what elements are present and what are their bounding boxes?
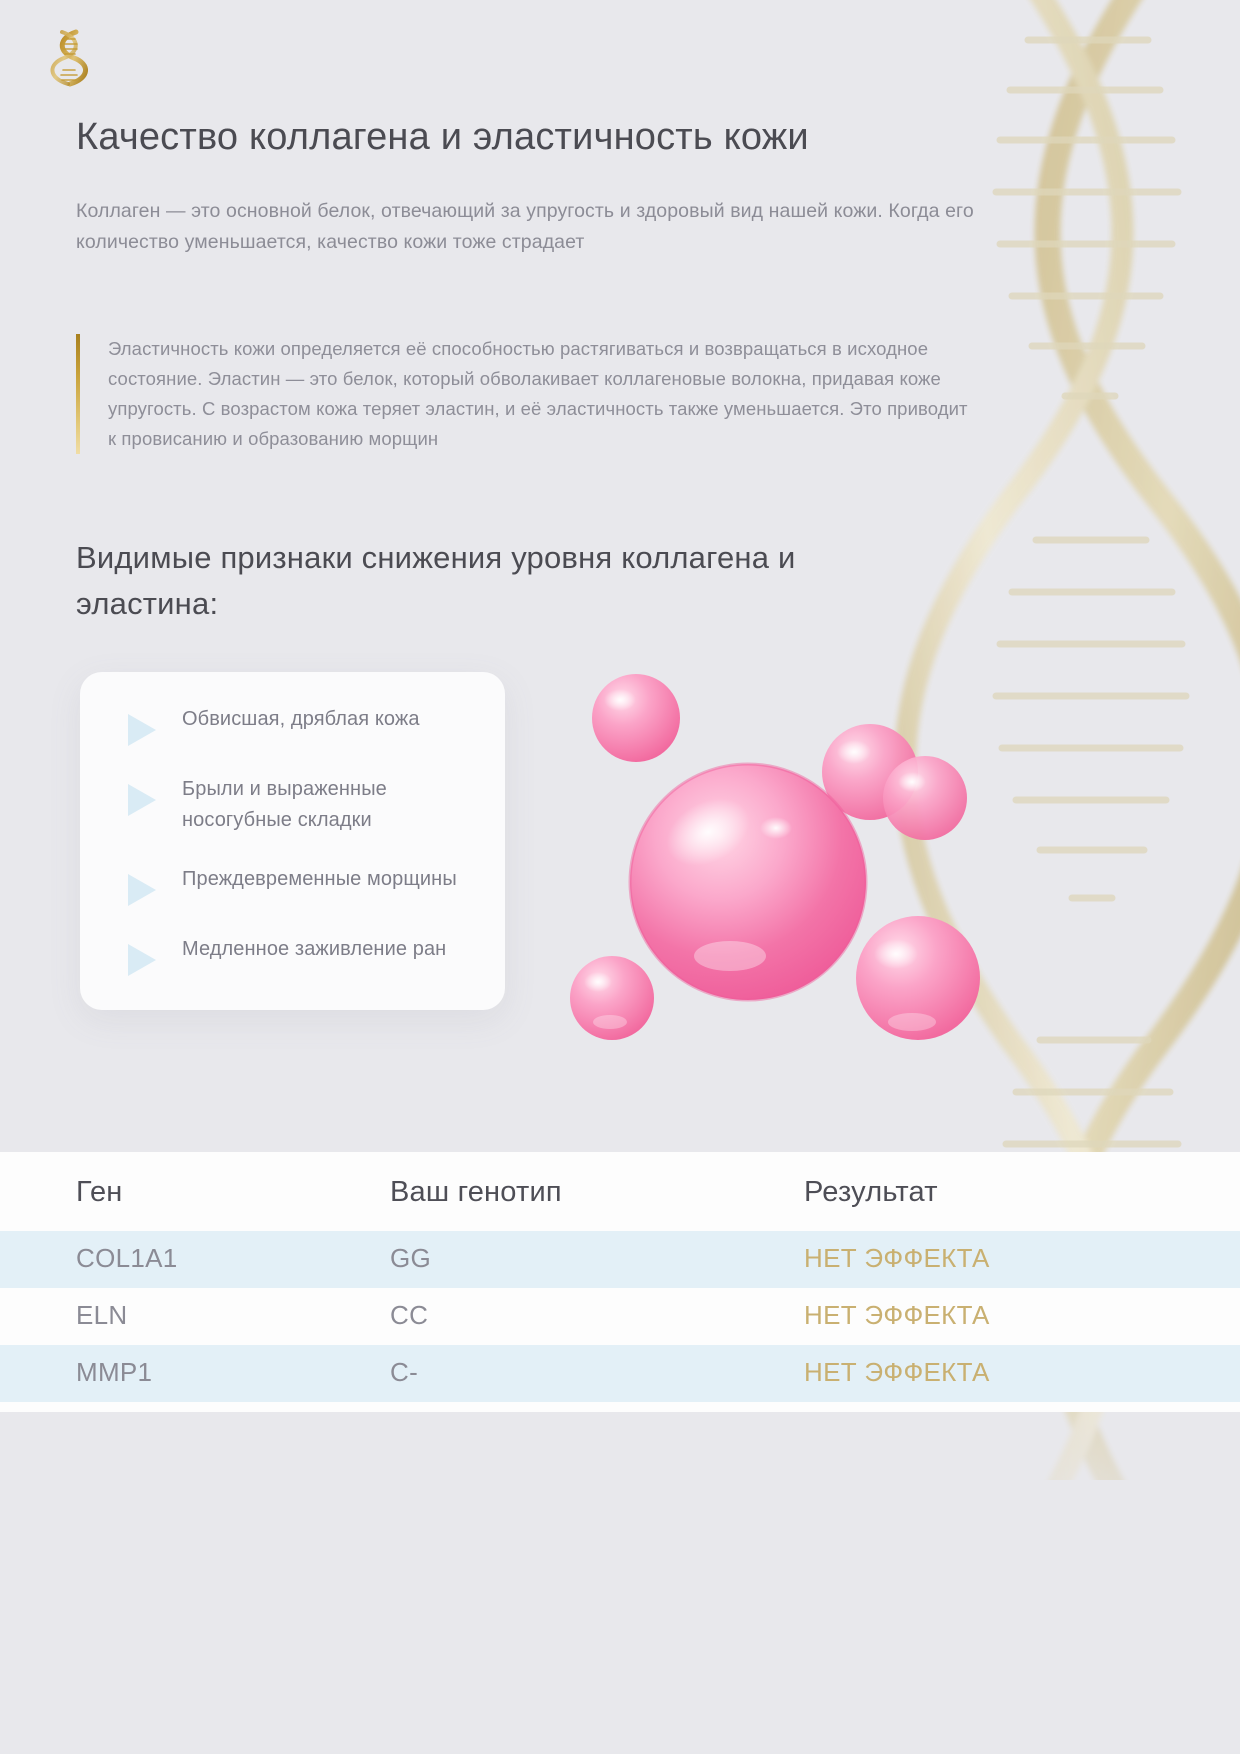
table-row: ELN CC НЕТ ЭФФЕКТА — [0, 1288, 1240, 1345]
quote-text: Эластичность кожи определяется её способ… — [108, 334, 976, 454]
page-title: Качество коллагена и эластичность кожи — [76, 116, 809, 159]
cell-genotype: CC — [350, 1288, 760, 1345]
triangle-bullet-icon — [128, 874, 156, 906]
list-item-label: Брыли и выраженные носогубные складки — [182, 774, 479, 836]
list-item-label: Преждевременные морщины — [182, 864, 457, 895]
cell-result: НЕТ ЭФФЕКТА — [760, 1288, 1240, 1345]
cell-gene: COL1A1 — [0, 1231, 350, 1288]
triangle-bullet-icon — [128, 714, 156, 746]
cell-gene: MMP1 — [0, 1345, 350, 1402]
cell-genotype: C- — [350, 1345, 760, 1402]
results-table-container: Ген Ваш генотип Результат COL1A1 GG НЕТ … — [0, 1152, 1240, 1412]
cell-gene: ELN — [0, 1288, 350, 1345]
table-row: MMP1 C- НЕТ ЭФФЕКТА — [0, 1345, 1240, 1402]
table-row: COL1A1 GG НЕТ ЭФФЕКТА — [0, 1231, 1240, 1288]
list-item: Медленное заживление ран — [106, 934, 479, 976]
list-item: Преждевременные морщины — [106, 864, 479, 906]
triangle-bullet-icon — [128, 944, 156, 976]
column-header-genotype: Ваш генотип — [350, 1152, 760, 1231]
list-item: Обвисшая, дряблая кожа — [106, 704, 479, 746]
results-table: Ген Ваш генотип Результат COL1A1 GG НЕТ … — [0, 1152, 1240, 1402]
list-item-label: Обвисшая, дряблая кожа — [182, 704, 420, 735]
cell-result: НЕТ ЭФФЕКТА — [760, 1345, 1240, 1402]
list-item-label: Медленное заживление ран — [182, 934, 446, 965]
section-title: Видимые признаки снижения уровня коллаге… — [76, 535, 896, 627]
triangle-bullet-icon — [128, 784, 156, 816]
cell-result: НЕТ ЭФФЕКТА — [760, 1231, 1240, 1288]
column-header-result: Результат — [760, 1152, 1240, 1231]
highlight-quote-block: Эластичность кожи определяется её способ… — [76, 334, 976, 454]
visible-signs-card: Обвисшая, дряблая кожа Брыли и выраженны… — [80, 672, 505, 1010]
dna-logo-icon — [38, 26, 98, 90]
table-header-row: Ген Ваш генотип Результат — [0, 1152, 1240, 1231]
pink-collagen-bubbles-icon — [540, 660, 1100, 1120]
intro-paragraph: Коллаген — это основной белок, отвечающи… — [76, 196, 1006, 258]
column-header-gene: Ген — [0, 1152, 350, 1231]
list-item: Брыли и выраженные носогубные складки — [106, 774, 479, 836]
cell-genotype: GG — [350, 1231, 760, 1288]
